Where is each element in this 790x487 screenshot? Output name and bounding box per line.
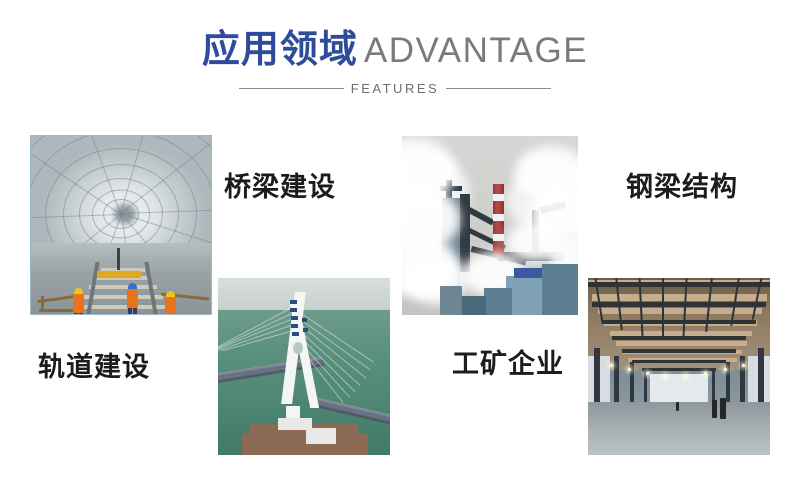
subtitle-rule-right: [446, 88, 551, 89]
page-header: 应用领域 ADVANTAGE FEATURES: [0, 18, 790, 96]
card-label-rail: 轨道建设: [38, 345, 150, 384]
steel-frame-warehouse-interior-photo: [588, 278, 770, 455]
page-title-english: ADVANTAGE: [364, 31, 588, 71]
page-title-chinese: 应用领域: [202, 18, 358, 73]
card-label-steel: 钢梁结构: [626, 165, 738, 204]
card-label-bridge: 桥梁建设: [224, 165, 336, 204]
cable-stayed-bridge-photo: [218, 278, 390, 455]
subtitle-text: FEATURES: [344, 81, 446, 96]
tunnel-rail-construction-photo: [30, 135, 212, 315]
subtitle-row: FEATURES: [0, 81, 790, 96]
industrial-steel-plant-photo: [402, 136, 578, 315]
card-label-plant: 工矿企业: [452, 342, 564, 381]
subtitle-rule-left: [239, 88, 344, 89]
page-title: 应用领域 ADVANTAGE: [202, 18, 588, 73]
